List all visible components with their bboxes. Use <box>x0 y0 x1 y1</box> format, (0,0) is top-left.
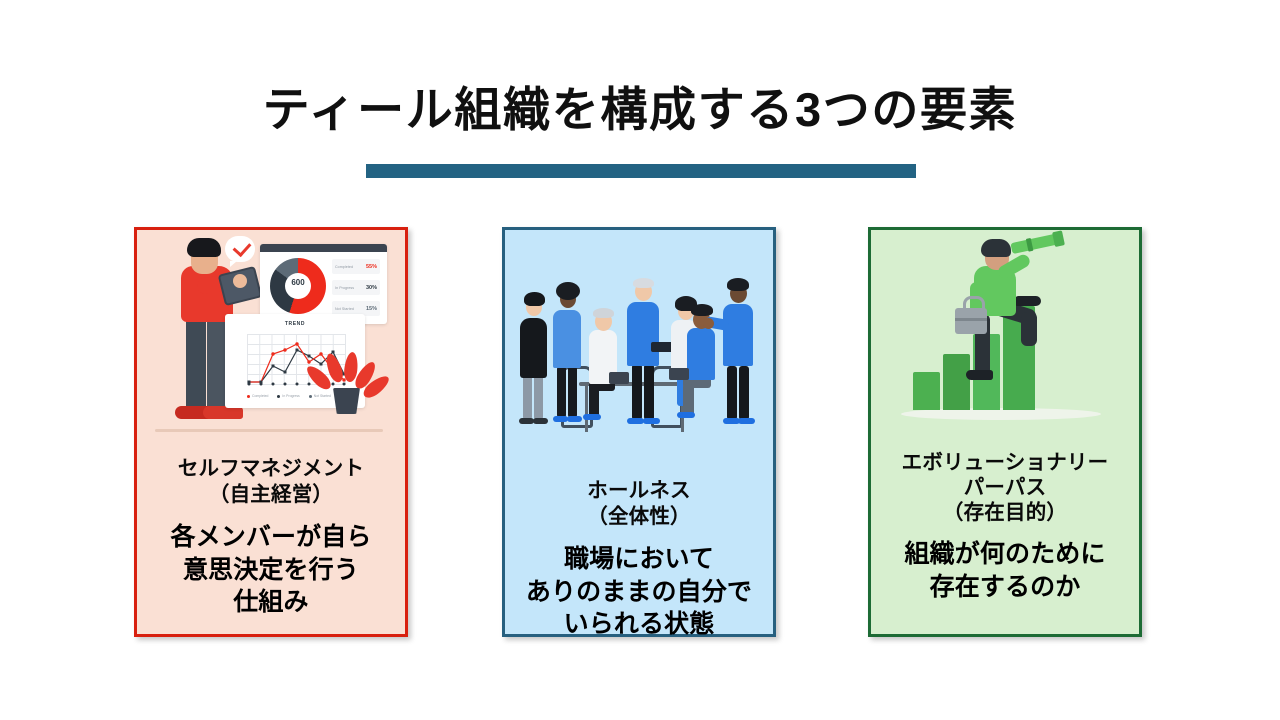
trend-legend-item-1: Completed <box>247 394 268 398</box>
briefcase-detail <box>955 318 987 321</box>
legend-label: In Progress <box>335 286 354 290</box>
title-block: ティール組織を構成する3つの要素 <box>0 84 1280 136</box>
legend-dot-icon <box>247 395 250 398</box>
person-shoe-back <box>966 370 993 380</box>
laptop-icon <box>609 372 629 384</box>
card-evolutionary-purpose[interactable]: エボリューショナリー パーパス （存在目的） 組織が何のために 存在するのか <box>868 227 1142 637</box>
telescope-icon <box>1010 233 1061 254</box>
panel-titlebar <box>260 244 387 252</box>
card-text-block: セルフマネジメント （自主経営） 各メンバーが自ら 意思決定を行う 仕組み <box>137 456 405 619</box>
legend-label: Not Started <box>335 307 354 311</box>
card-heading: セルフマネジメント （自主経営） <box>143 456 399 508</box>
legend-label: Completed <box>252 394 268 398</box>
card-text-block: ホールネス （全体性） 職場において ありのままの自分で いられる状態 <box>505 478 773 641</box>
legend-dot-icon <box>309 395 312 398</box>
trend-chart-legend: Completed In Progress Not Started <box>247 394 331 398</box>
person-leg-left <box>186 316 206 412</box>
tablet-icon <box>651 342 673 352</box>
handshake-icon <box>703 318 714 329</box>
briefcase-icon <box>955 308 987 334</box>
person-hand <box>233 274 247 288</box>
team-meeting-illustration <box>505 254 773 444</box>
legend-value: 30% <box>366 285 377 291</box>
card-self-management[interactable]: 600 Completed 55% In Progress 30% Not St… <box>134 227 408 637</box>
person-shin <box>1021 312 1037 346</box>
legend-label: Not Started <box>314 394 331 398</box>
legend-value: 55% <box>366 264 377 270</box>
plant-pot-icon <box>333 388 360 414</box>
card-heading: エボリューショナリー パーパス （存在目的） <box>877 450 1133 525</box>
donut-center-label: 600 <box>270 278 326 287</box>
step-bar-1 <box>913 372 940 410</box>
analyst-with-dashboard-illustration: 600 Completed 55% In Progress 30% Not St… <box>137 230 405 442</box>
step-bar-2 <box>943 354 970 410</box>
person-hair <box>187 238 221 257</box>
card-body-text: 職場において ありのままの自分で いられる状態 <box>511 543 767 641</box>
donut-legend-row-1: Completed 55% <box>332 259 380 274</box>
trend-legend-item-3: Not Started <box>309 394 331 398</box>
card-text-block: エボリューショナリー パーパス （存在目的） 組織が何のために 存在するのか <box>871 450 1139 603</box>
card-body-text: 各メンバーが自ら 意思決定を行う 仕組み <box>143 521 399 619</box>
title-underline-rule <box>366 164 916 178</box>
card-wholeness[interactable]: ホールネス （全体性） 職場において ありのままの自分で いられる状態 <box>502 227 776 637</box>
person-hair <box>981 239 1011 257</box>
legend-label: In Progress <box>282 394 299 398</box>
legend-dot-icon <box>277 395 280 398</box>
laptop-icon <box>669 368 689 380</box>
trend-legend-item-2: In Progress <box>277 394 299 398</box>
person-shoe-front <box>1015 296 1041 306</box>
legend-label: Completed <box>335 265 353 269</box>
floor-line-icon <box>155 429 383 432</box>
donut-legend-row-2: In Progress 30% <box>332 280 380 295</box>
card-body-text: 組織が何のために 存在するのか <box>877 538 1133 603</box>
card-heading: ホールネス （全体性） <box>511 478 767 530</box>
legend-value: 15% <box>366 306 377 312</box>
table-leg <box>585 386 588 432</box>
climber-with-telescope-illustration <box>871 230 1139 442</box>
page-title: ティール組織を構成する3つの要素 <box>0 84 1280 136</box>
slide-canvas: ティール組織を構成する3つの要素 <box>0 0 1280 720</box>
donut-chart-panel: 600 Completed 55% In Progress 30% Not St… <box>260 244 387 324</box>
